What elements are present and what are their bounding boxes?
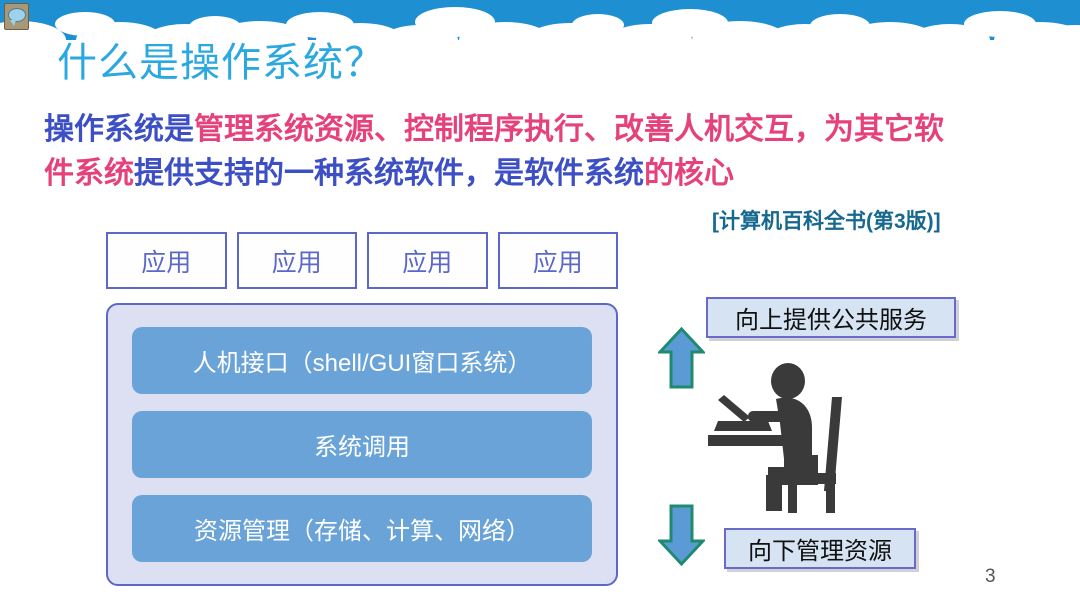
operating-system-container: 人机接口（shell/GUI窗口系统） 系统调用 资源管理（存储、计算、网络）	[106, 303, 618, 586]
page-number: 3	[985, 566, 996, 588]
definition-line2-part1: 件系统	[44, 157, 134, 190]
app-box: 应用	[237, 232, 358, 289]
definition-line2-part2: 提供支持的一种系统软件，是软件系统	[134, 157, 644, 190]
person-at-laptop-icon	[706, 363, 906, 513]
definition-line2-part3: 的核心	[644, 157, 734, 190]
os-layer-resource-management: 资源管理（存储、计算、网络）	[132, 495, 592, 562]
sky-cloud-banner	[0, 0, 1080, 40]
callout-downward-resource: 向下管理资源	[724, 528, 916, 569]
speech-bubble-tail	[10, 20, 16, 26]
app-box: 应用	[106, 232, 227, 289]
app-box: 应用	[498, 232, 619, 289]
arrow-up-icon	[658, 327, 705, 389]
application-layer-row: 应用 应用 应用 应用	[106, 232, 618, 289]
app-box: 应用	[367, 232, 488, 289]
page-title: 什么是操作系统？	[57, 39, 385, 87]
definition-line1-part1: 操作系统是	[44, 113, 194, 146]
os-layer-system-call: 系统调用	[132, 411, 592, 478]
callout-upward-service: 向上提供公共服务	[706, 297, 956, 338]
cloud-decoration	[0, 0, 1080, 40]
citation-source: [计算机百科全书(第3版)]	[712, 205, 941, 235]
os-layer-user-interface: 人机接口（shell/GUI窗口系统）	[132, 327, 592, 394]
arrow-down-icon	[658, 504, 705, 566]
speech-bubble-icon	[4, 3, 29, 30]
definition-line1-part2: 管理系统资源、控制程序执行、改善人机交互，为其它软	[194, 113, 944, 146]
definition-paragraph: 操作系统是管理系统资源、控制程序执行、改善人机交互，为其它软 件系统提供支持的一…	[44, 108, 1034, 196]
slide-canvas: 什么是操作系统？ 操作系统是管理系统资源、控制程序执行、改善人机交互，为其它软 …	[0, 0, 1080, 608]
